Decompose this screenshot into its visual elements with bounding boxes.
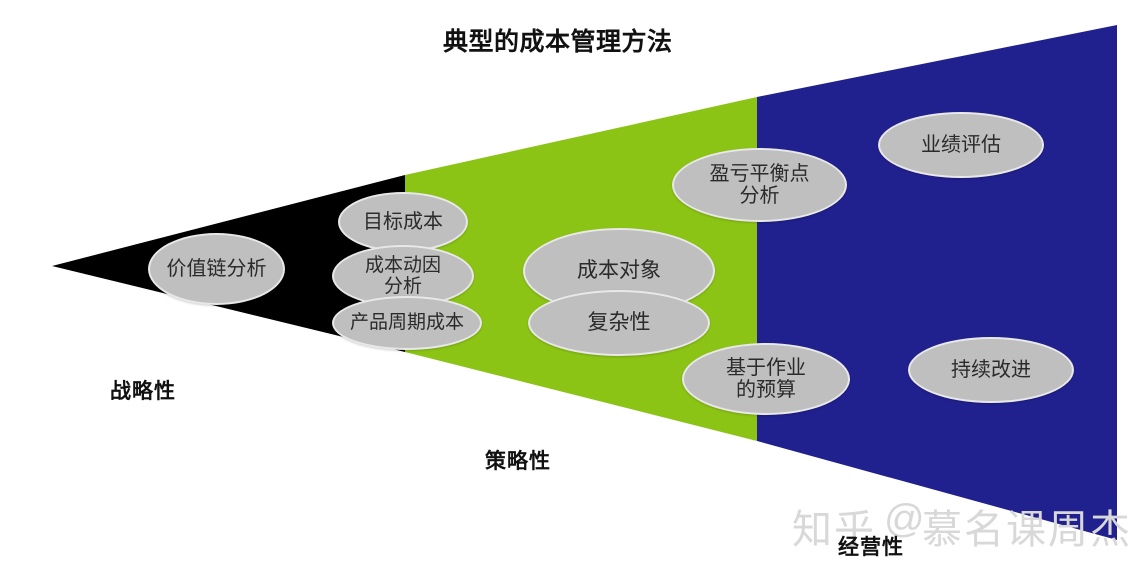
- node-label-line: 产品周期成本: [340, 312, 474, 333]
- node-label-line: 的预算: [690, 379, 842, 401]
- node-label-line: 盈亏平衡点: [680, 163, 839, 185]
- node-label-line: 复杂性: [536, 311, 702, 335]
- node-target-cost[interactable]: 目标成本: [338, 192, 468, 252]
- band-label-operational: 经营性: [838, 531, 904, 561]
- node-label-line: 分析: [680, 185, 839, 207]
- watermark-handle: 慕名课周杰可课: [922, 497, 1134, 555]
- node-label-line: 基于作业: [690, 357, 842, 379]
- node-performance-evaluation[interactable]: 业绩评估: [878, 112, 1044, 178]
- page-title: 典型的成本管理方法: [443, 22, 723, 58]
- node-product-lifecycle-cost[interactable]: 产品周期成本: [332, 296, 482, 350]
- node-label-line: 价值链分析: [156, 258, 277, 280]
- diagram-canvas: 典型的成本管理方法 知乎 @ 慕名课周杰可课 价值链分析 目标成本 成本动因 分…: [0, 0, 1134, 574]
- node-activity-based-budgeting[interactable]: 基于作业 的预算: [682, 343, 850, 415]
- node-label-line: 成本动因: [340, 255, 466, 276]
- node-label-line: 持续改进: [916, 359, 1066, 381]
- node-continuous-improvement[interactable]: 持续改进: [908, 337, 1074, 403]
- node-label-line: 成本对象: [531, 259, 707, 283]
- node-label-line: 目标成本: [346, 211, 460, 233]
- node-break-even-analysis[interactable]: 盈亏平衡点 分析: [672, 148, 847, 222]
- node-label-line: 分析: [340, 276, 466, 297]
- node-label-line: 业绩评估: [886, 134, 1036, 156]
- band-shape-operational: [757, 25, 1117, 540]
- node-complexity[interactable]: 复杂性: [528, 290, 710, 356]
- band-label-strategic: 战略性: [110, 375, 176, 405]
- band-label-tactical: 策略性: [485, 445, 551, 475]
- node-value-chain-analysis[interactable]: 价值链分析: [148, 233, 285, 305]
